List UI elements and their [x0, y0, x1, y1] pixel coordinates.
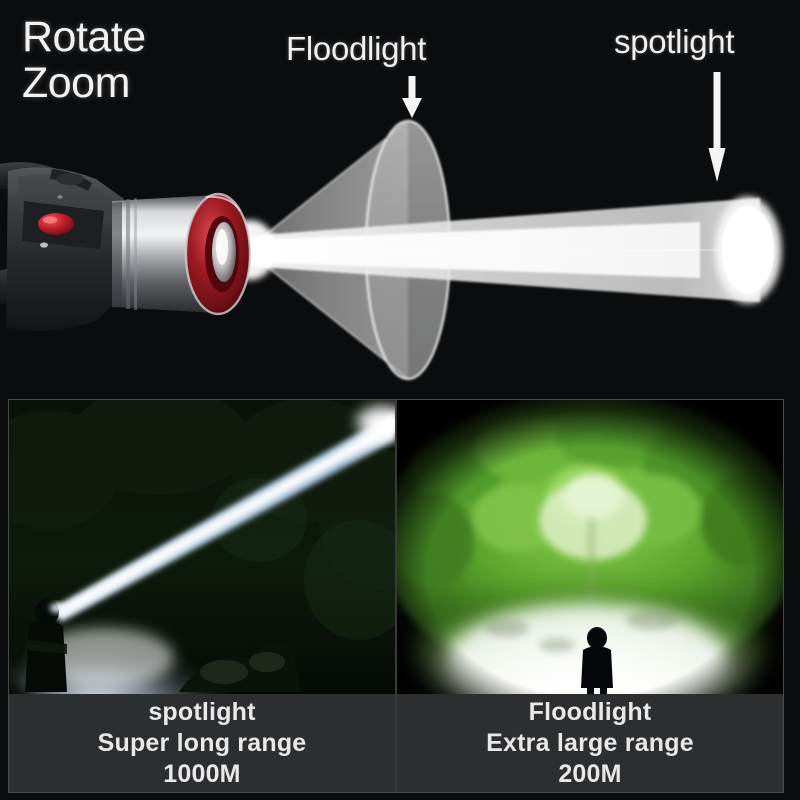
- night-forest-wide-flood-scene: [397, 400, 783, 696]
- spotlight-photo-cell: spotlight Super long range 1000M: [9, 400, 395, 792]
- down-arrow-icon: [708, 72, 726, 182]
- spotlight-caption: spotlight Super long range 1000M: [9, 694, 395, 792]
- caption-subtitle: Extra large range: [397, 728, 783, 759]
- caption-range: 200M: [397, 759, 783, 790]
- night-road-narrow-beam-scene: [9, 400, 395, 696]
- flashlight-headlamp-icon: [0, 155, 270, 360]
- floodlight-label: Floodlight: [286, 31, 426, 67]
- spotlight-label: spotlight: [614, 24, 734, 60]
- caption-range: 1000M: [9, 759, 395, 790]
- infographic-page: Floodlight spotlight Rotate Zoom: [0, 0, 800, 800]
- spotlight-photo: [9, 400, 395, 696]
- caption-title: spotlight: [9, 697, 395, 728]
- page-title: Rotate Zoom: [22, 14, 146, 106]
- floodlight-photo-cell: Floodlight Extra large range 200M: [395, 400, 783, 792]
- caption-subtitle: Super long range: [9, 728, 395, 759]
- floodlight-photo: [397, 400, 783, 696]
- comparison-photo-panel: spotlight Super long range 1000M: [8, 399, 784, 793]
- beam-diagram: Floodlight spotlight Rotate Zoom: [0, 0, 800, 398]
- floodlight-caption: Floodlight Extra large range 200M: [397, 694, 783, 792]
- power-button-icon: [38, 213, 74, 235]
- down-arrow-icon: [400, 76, 424, 120]
- caption-title: Floodlight: [397, 697, 783, 728]
